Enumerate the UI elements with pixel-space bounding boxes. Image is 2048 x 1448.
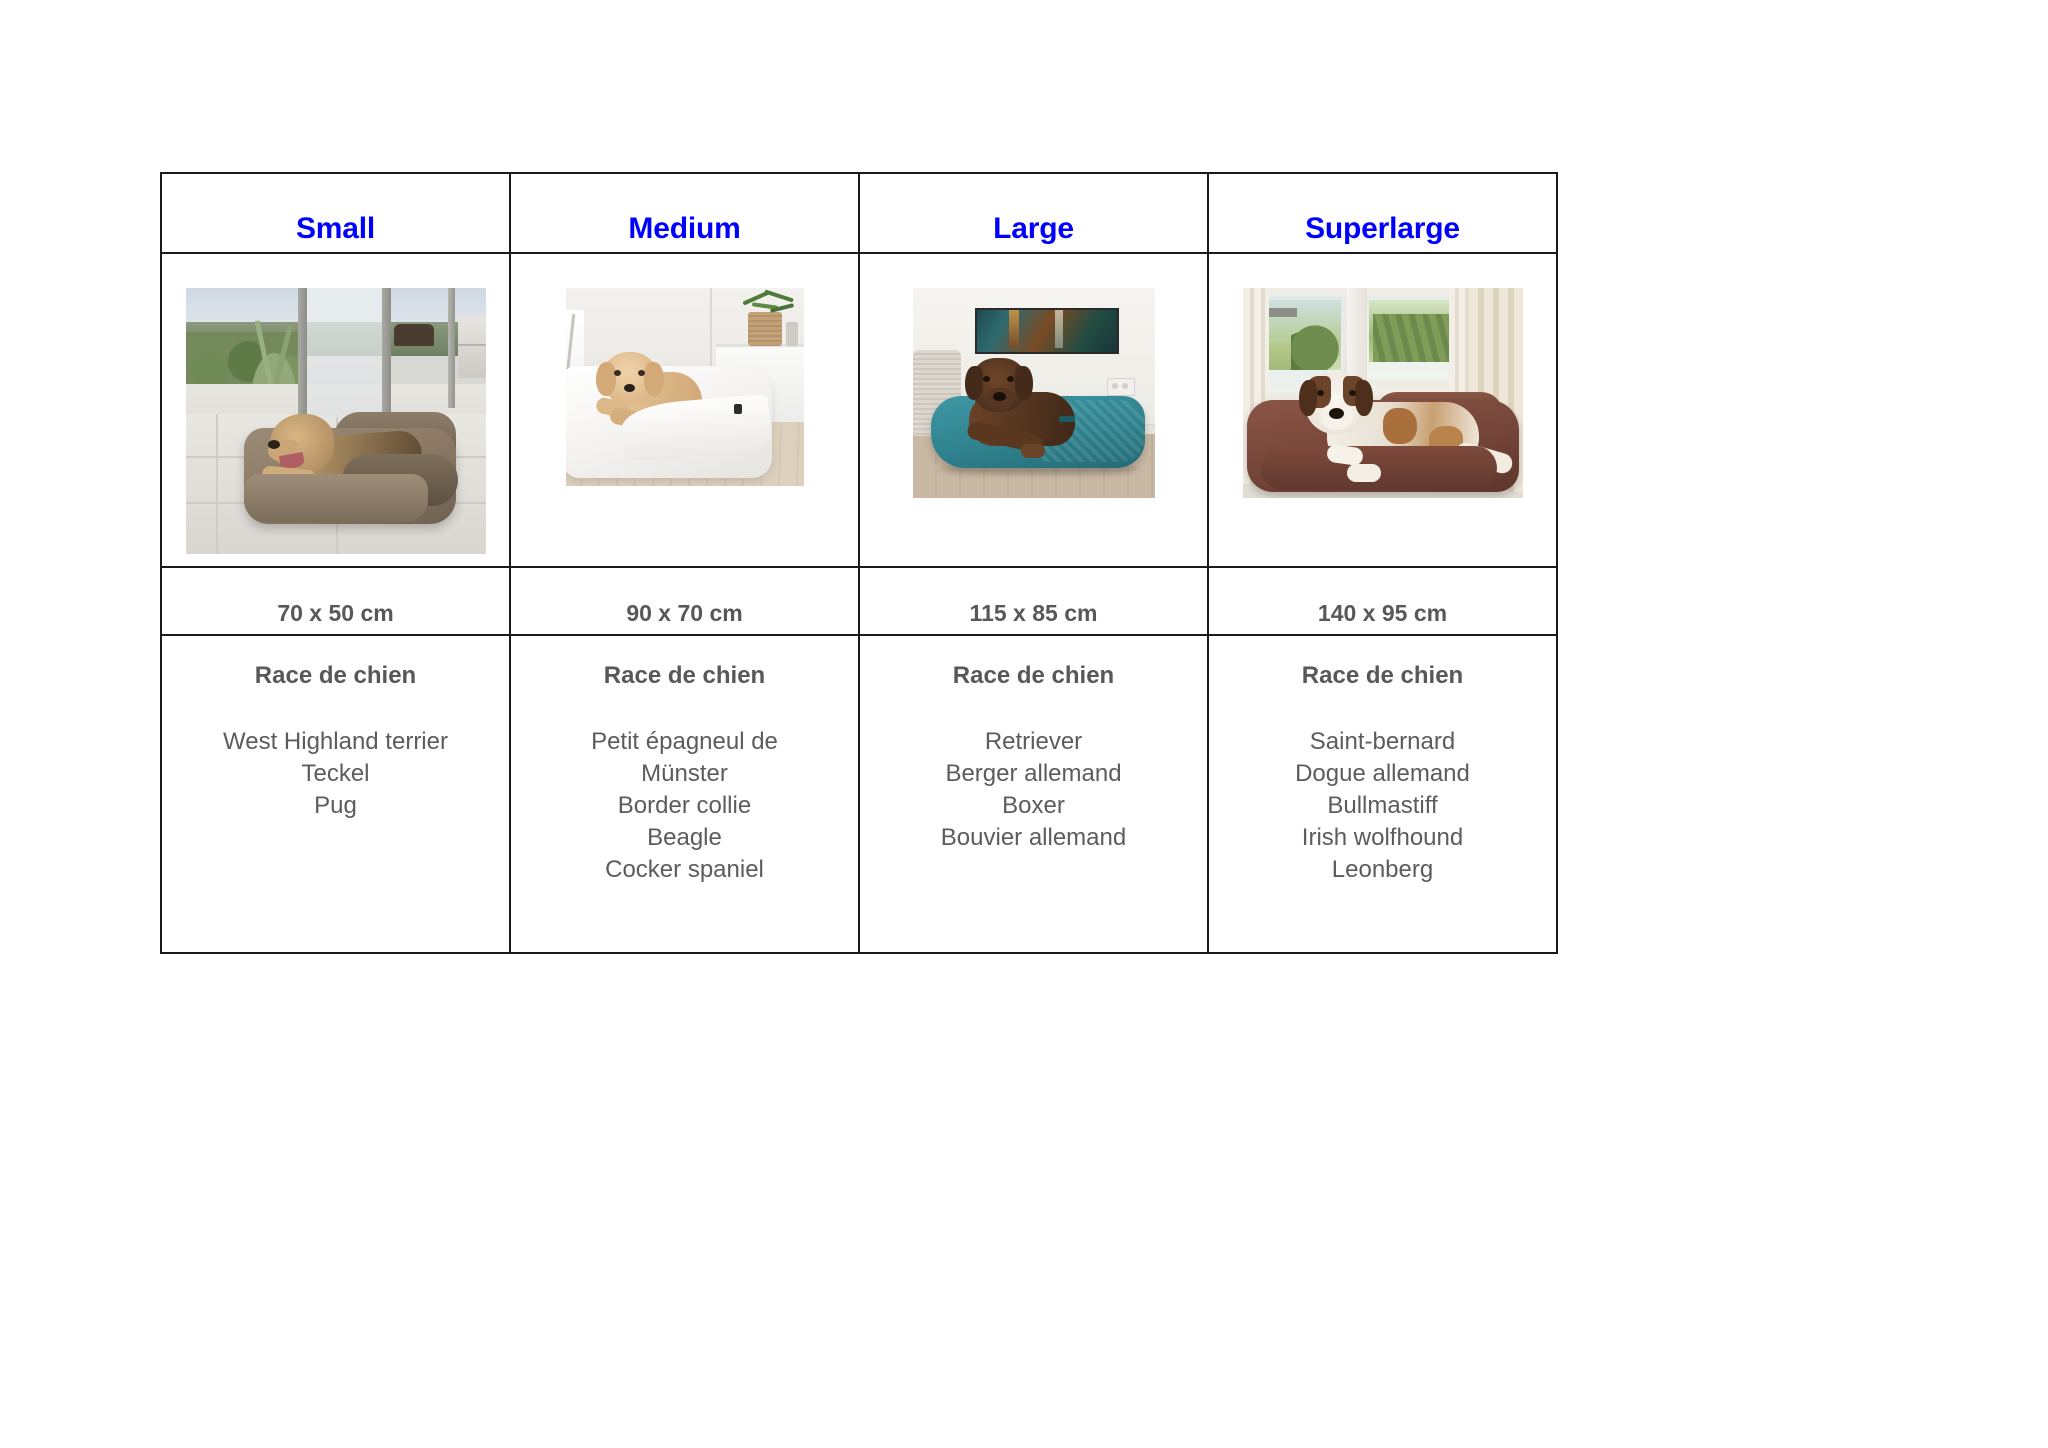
breed-cell-superlarge: Race de chien Saint-bernard Dogue allema… — [1208, 635, 1557, 953]
dimension-label: 115 x 85 cm — [860, 600, 1207, 634]
breed-item: Dogue allemand — [1209, 758, 1556, 790]
breed-list: West Highland terrier Teckel Pug — [162, 726, 509, 822]
breed-item: Berger allemand — [860, 758, 1207, 790]
dimension-label: 140 x 95 cm — [1209, 600, 1556, 634]
dimension-cell-superlarge: 140 x 95 cm — [1208, 567, 1557, 635]
table-header-row: Small Medium Large Superlarge — [161, 173, 1557, 253]
photo-wrapper — [1209, 254, 1556, 566]
breed-item: Bouvier allemand — [860, 822, 1207, 854]
breed-item: Münster — [511, 758, 858, 790]
photo-cell-large — [859, 253, 1208, 567]
breed-item: Leonberg — [1209, 854, 1556, 886]
breed-list: Retriever Berger allemand Boxer Bouvier … — [860, 726, 1207, 854]
breed-section-title: Race de chien — [162, 662, 509, 690]
size-header-label: Medium — [511, 212, 858, 252]
breed-cell-medium: Race de chien Petit épagneul de Münster … — [510, 635, 859, 953]
breed-item: Pug — [162, 790, 509, 822]
header-cell-medium: Medium — [510, 173, 859, 253]
breed-cell-large: Race de chien Retriever Berger allemand … — [859, 635, 1208, 953]
breed-item: Petit épagneul de — [511, 726, 858, 758]
dimension-label: 70 x 50 cm — [162, 600, 509, 634]
breed-item: Irish wolfhound — [1209, 822, 1556, 854]
breed-section-title: Race de chien — [511, 662, 858, 690]
photo-cell-medium — [510, 253, 859, 567]
dimension-cell-small: 70 x 50 cm — [161, 567, 510, 635]
breed-item: Cocker spaniel — [511, 854, 858, 886]
dimension-label: 90 x 70 cm — [511, 600, 858, 634]
breed-list: Petit épagneul de Münster Border collie … — [511, 726, 858, 886]
product-photo-medium — [566, 288, 804, 486]
size-header-label: Small — [162, 212, 509, 252]
breed-item: Teckel — [162, 758, 509, 790]
photo-wrapper — [511, 254, 858, 566]
product-photo-superlarge — [1243, 288, 1523, 498]
breed-item: West Highland terrier — [162, 726, 509, 758]
photo-wrapper — [162, 254, 509, 566]
dimension-cell-large: 115 x 85 cm — [859, 567, 1208, 635]
header-cell-large: Large — [859, 173, 1208, 253]
product-photo-large — [913, 288, 1155, 498]
header-cell-small: Small — [161, 173, 510, 253]
breed-list: Saint-bernard Dogue allemand Bullmastiff… — [1209, 726, 1556, 886]
breed-item: Beagle — [511, 822, 858, 854]
dog-bed-size-table: Small Medium Large Superlarge — [160, 172, 1558, 954]
breed-item: Bullmastiff — [1209, 790, 1556, 822]
breed-section-title: Race de chien — [860, 662, 1207, 690]
size-header-label: Superlarge — [1209, 212, 1556, 252]
breed-item: Border collie — [511, 790, 858, 822]
breed-section-title: Race de chien — [1209, 662, 1556, 690]
photo-wrapper — [860, 254, 1207, 566]
header-cell-superlarge: Superlarge — [1208, 173, 1557, 253]
photo-cell-superlarge — [1208, 253, 1557, 567]
table-dimension-row: 70 x 50 cm 90 x 70 cm 115 x 85 cm 140 x … — [161, 567, 1557, 635]
dimension-cell-medium: 90 x 70 cm — [510, 567, 859, 635]
table-breed-row: Race de chien West Highland terrier Teck… — [161, 635, 1557, 953]
breed-item: Saint-bernard — [1209, 726, 1556, 758]
photo-cell-small — [161, 253, 510, 567]
product-photo-small — [186, 288, 486, 554]
breed-cell-small: Race de chien West Highland terrier Teck… — [161, 635, 510, 953]
document-page: Small Medium Large Superlarge — [0, 0, 2048, 1448]
table-photo-row — [161, 253, 1557, 567]
breed-item: Retriever — [860, 726, 1207, 758]
breed-item: Boxer — [860, 790, 1207, 822]
size-header-label: Large — [860, 212, 1207, 252]
